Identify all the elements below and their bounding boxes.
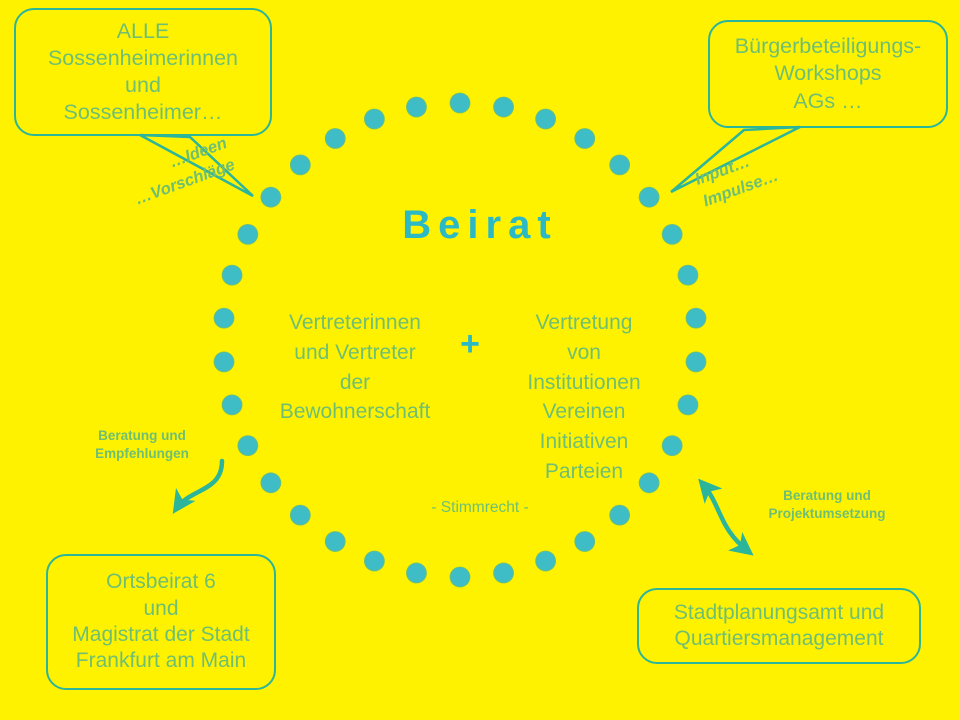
box-ortsbeirat[interactable]: Ortsbeirat 6 und Magistrat der Stadt Fra… (46, 554, 276, 690)
annotation-beratung-projektumsetzung: Beratung und Projektumsetzung (742, 487, 912, 524)
speech-bubble-workshops-label: Bürgerbeteiligungs- Workshops AGs … (727, 33, 929, 114)
center-column-right: Vertretung von Institutionen Vereinen In… (493, 308, 675, 487)
speech-bubble-workshops[interactable]: Bürgerbeteiligungs- Workshops AGs … (708, 20, 948, 128)
box-stadtplanung[interactable]: Stadtplanungsamt und Quartiersmanagement (637, 588, 921, 664)
box-stadtplanung-label: Stadtplanungsamt und Quartiersmanagement (666, 600, 892, 653)
box-ortsbeirat-label: Ortsbeirat 6 und Magistrat der Stadt Fra… (64, 569, 257, 675)
speech-bubble-alle-label: ALLE Sossenheimerinnen und Sossenheimer… (40, 18, 246, 126)
plus-icon: + (440, 325, 500, 364)
center-column-left: Vertreterinnen und Vertreter der Bewohne… (265, 308, 445, 427)
speech-bubble-alle[interactable]: ALLE Sossenheimerinnen und Sossenheimer… (14, 8, 272, 136)
diagram-canvas: ALLE Sossenheimerinnen und Sossenheimer…… (0, 0, 960, 720)
annotation-beratung-empfehlungen: Beratung und Empfehlungen (72, 427, 212, 464)
